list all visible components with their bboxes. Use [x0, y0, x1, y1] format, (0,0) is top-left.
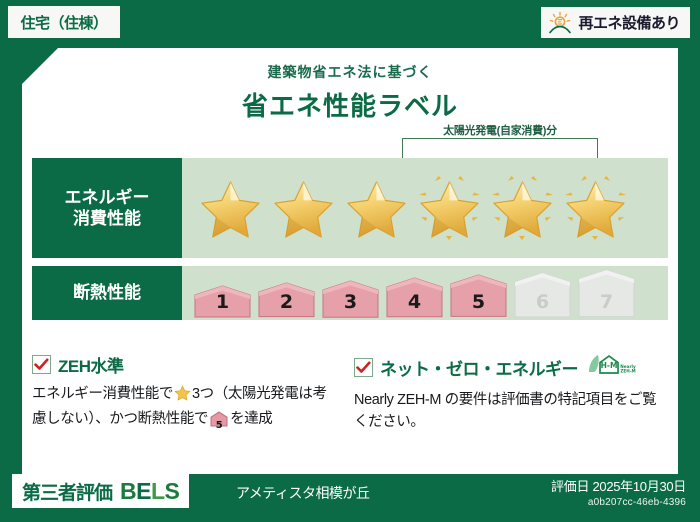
- zeh-text-part1: エネルギー消費性能で: [32, 386, 173, 402]
- star-icon: [269, 173, 338, 243]
- evaluation-date: 評価日 2025年10月30日: [551, 476, 686, 495]
- zeh-text-part3: を達成: [230, 411, 272, 427]
- star-icon: [488, 173, 557, 243]
- inline-star-icon: [174, 389, 191, 405]
- energy-performance-row: エネルギー 消費性能 太陽光発電(自家消費)分: [32, 158, 668, 258]
- energy-performance-label: 住宅（住棟） 再エネ設備あり 建築物省エネ法に基づく 省エネ性能ラベル パナ: [0, 0, 700, 522]
- star-rating: [182, 173, 630, 243]
- checkbox-net-zero-energy[interactable]: [354, 358, 373, 377]
- star-icon: [415, 173, 484, 243]
- energy-rating-area: 太陽光発電(自家消費)分: [182, 158, 668, 258]
- category-tag-label: 住宅（住棟）: [20, 12, 107, 33]
- label-title-block: 建築物省エネ法に基づく 省エネ性能ラベル: [0, 62, 700, 123]
- svg-text:ZEH-M: ZEH-M: [620, 369, 635, 374]
- insulation-step-3: 3: [320, 278, 381, 319]
- insulation-step-1: 1: [192, 283, 253, 319]
- solar-bracket: [402, 138, 598, 158]
- zeh-level-description: エネルギー消費性能で3つ（太陽光発電は考慮しない）、かつ断熱性能で5を達成: [32, 384, 340, 435]
- insulation-step-5: 5: [448, 272, 509, 318]
- insulation-step-number: 5: [448, 291, 509, 313]
- zeh-m-logo-icon: H-M Nearly ZEH-M: [587, 352, 639, 383]
- star-icon: [342, 173, 411, 243]
- insulation-step-number: 7: [576, 291, 637, 313]
- title-main: 省エネ性能ラベル: [0, 86, 700, 123]
- panel-net-zero-energy: ネット・ゼロ・エネルギー H-M Nearly ZEH-M Nearly ZEH…: [354, 352, 676, 435]
- category-tag: 住宅（住棟）: [8, 6, 120, 38]
- insulation-step-number: 6: [512, 291, 573, 313]
- building-name: アメティスタ相模が丘: [236, 483, 369, 503]
- net-zero-description: Nearly ZEH-M の要件は評価書の特記項目をご覧ください。: [354, 390, 662, 434]
- insulation-step-7: 7: [576, 267, 637, 319]
- evaluation-id: a0b207cc-46eb-4396: [551, 497, 686, 508]
- insulation-performance-label-box: 断熱性能: [32, 266, 182, 320]
- insulation-step-2: 2: [256, 280, 317, 319]
- insulation-step-number: 2: [256, 291, 317, 313]
- bels-letter-s: S: [165, 478, 180, 504]
- insulation-step-6: 6: [512, 270, 573, 319]
- inline-house-icon: 5: [210, 411, 228, 435]
- house-rating-scale: 1 2 3 4 5: [182, 267, 637, 319]
- bels-third-party-label: 第三者評価: [22, 478, 112, 505]
- evaluation-info: 評価日 2025年10月30日 a0b207cc-46eb-4396: [551, 476, 686, 508]
- zeh-m-logo-text: H-M: [601, 361, 618, 370]
- checkbox-zeh-level[interactable]: [32, 355, 51, 374]
- check-icon: [356, 361, 371, 374]
- insulation-rating-area: 1 2 3 4 5: [182, 266, 668, 320]
- solar-bracket-caption: 太陽光発電(自家消費)分: [392, 122, 608, 138]
- energy-label-line2: 消費性能: [73, 208, 141, 229]
- criteria-panels: ZEH水準 エネルギー消費性能で3つ（太陽光発電は考慮しない）、かつ断熱性能で5…: [32, 352, 676, 435]
- energy-label-line1: エネルギー: [65, 187, 150, 208]
- bels-letter-e: E: [136, 478, 151, 504]
- title-subtitle: 建築物省エネ法に基づく: [0, 62, 700, 82]
- check-icon: [34, 358, 49, 371]
- net-zero-title: ネット・ゼロ・エネルギー: [380, 355, 578, 380]
- sun-solar-icon: [547, 11, 573, 35]
- star-icon: [196, 173, 265, 243]
- zeh-level-head: ZEH水準: [32, 352, 340, 377]
- insulation-step-number: 4: [384, 291, 445, 313]
- insulation-step-4: 4: [384, 275, 445, 319]
- zeh-level-title: ZEH水準: [58, 352, 124, 377]
- label-footer: 第三者評価 BELS アメティスタ相模が丘 評価日 2025年10月30日 a0…: [0, 466, 700, 522]
- bels-letter-b: B: [120, 478, 136, 504]
- insulation-performance-row: 断熱性能 1 2 3 4: [32, 266, 668, 320]
- bels-badge: 第三者評価 BELS: [12, 474, 189, 508]
- renewable-tag-label: 再エネ設備あり: [578, 12, 680, 33]
- insulation-step-number: 1: [192, 291, 253, 313]
- bels-letter-l: L: [151, 478, 165, 504]
- net-zero-head: ネット・ゼロ・エネルギー H-M Nearly ZEH-M: [354, 352, 662, 383]
- panel-zeh-level: ZEH水準 エネルギー消費性能で3つ（太陽光発電は考慮しない）、かつ断熱性能で5…: [32, 352, 354, 435]
- renewable-equipment-tag: 再エネ設備あり: [541, 7, 690, 38]
- energy-performance-label-box: エネルギー 消費性能: [32, 158, 182, 258]
- inline-house-number: 5: [210, 418, 228, 433]
- star-icon: [561, 173, 630, 243]
- bels-logo: BELS: [120, 478, 179, 505]
- insulation-step-number: 3: [320, 291, 381, 313]
- insulation-label: 断熱性能: [73, 282, 141, 303]
